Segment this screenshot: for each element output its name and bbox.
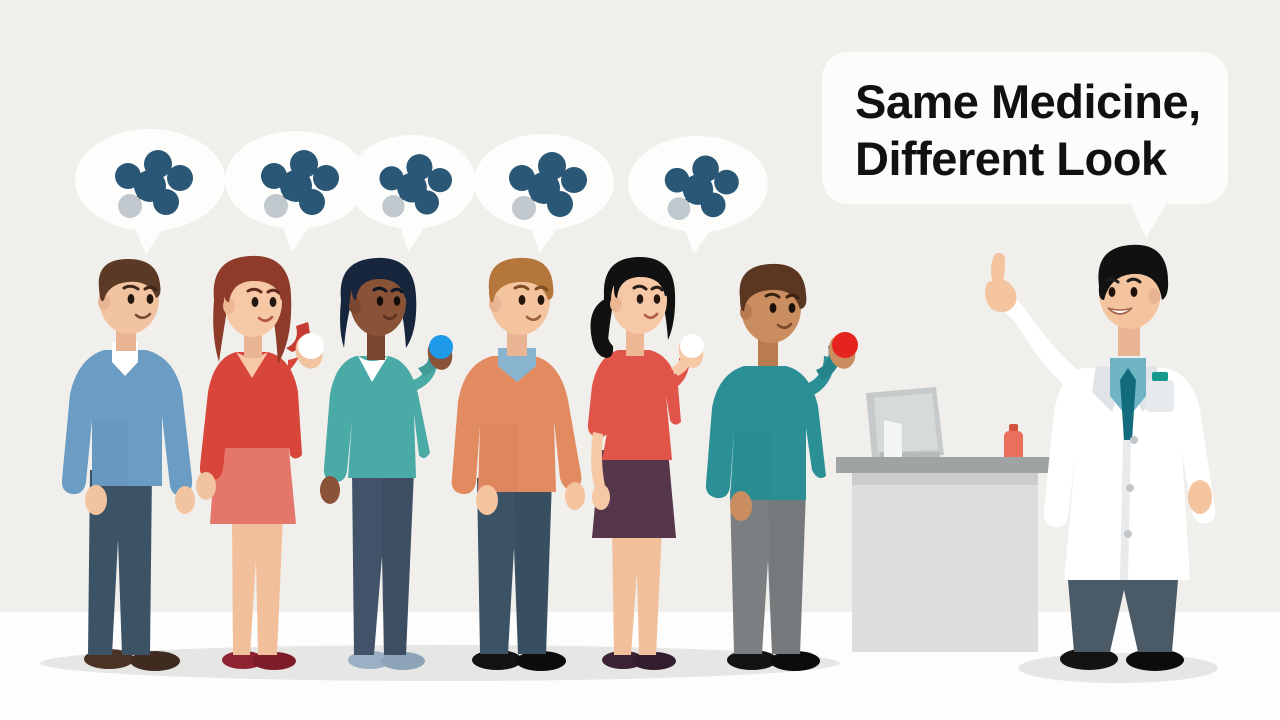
paper-card: [884, 420, 902, 462]
eye: [519, 295, 526, 305]
sweater-shade: [92, 420, 128, 486]
callout-line-1: Same Medicine,: [855, 75, 1201, 128]
neck: [367, 332, 385, 360]
ear: [349, 298, 361, 314]
illustration-scene: Same Medicine, Different Look: [0, 0, 1280, 720]
eye: [789, 303, 796, 313]
counter-side: [852, 473, 1038, 485]
coat-button: [1126, 484, 1134, 492]
eye: [394, 296, 401, 306]
coat-button: [1124, 530, 1132, 538]
coat-button: [1130, 436, 1138, 444]
eye: [252, 297, 259, 307]
hand: [565, 482, 585, 510]
eye: [1109, 287, 1116, 297]
sweater-shade: [734, 432, 770, 500]
pill-blue: [429, 335, 453, 359]
eye: [147, 294, 154, 304]
counter-top: [836, 457, 1058, 473]
hand: [175, 486, 195, 514]
hand: [592, 484, 610, 510]
neck: [1118, 326, 1140, 356]
counter-body: [852, 485, 1038, 652]
ear: [610, 296, 622, 312]
hand: [320, 476, 340, 504]
pants-shade: [514, 478, 552, 654]
pill-red: [832, 332, 858, 358]
hand: [476, 485, 498, 515]
pill-white: [680, 334, 704, 358]
sweater-shade: [480, 424, 518, 492]
eye: [770, 303, 777, 313]
eye: [654, 294, 661, 304]
pants-shade: [768, 490, 806, 654]
shoe: [1126, 649, 1184, 671]
monitor: [866, 387, 944, 460]
hand: [730, 491, 752, 521]
pharmacist-shadow: [1018, 653, 1218, 683]
eye: [637, 294, 644, 304]
eye: [377, 296, 384, 306]
coat-pocket: [1146, 380, 1174, 412]
hand: [196, 472, 216, 500]
hand: [85, 485, 107, 515]
eye: [1131, 287, 1138, 297]
ear: [1148, 288, 1160, 304]
eye: [270, 297, 277, 307]
pill-white: [298, 333, 324, 359]
hand: [1188, 480, 1212, 514]
eye: [128, 294, 135, 304]
eye: [538, 295, 545, 305]
callout-line-2: Different Look: [855, 132, 1168, 185]
pocket-item: [1152, 372, 1168, 381]
